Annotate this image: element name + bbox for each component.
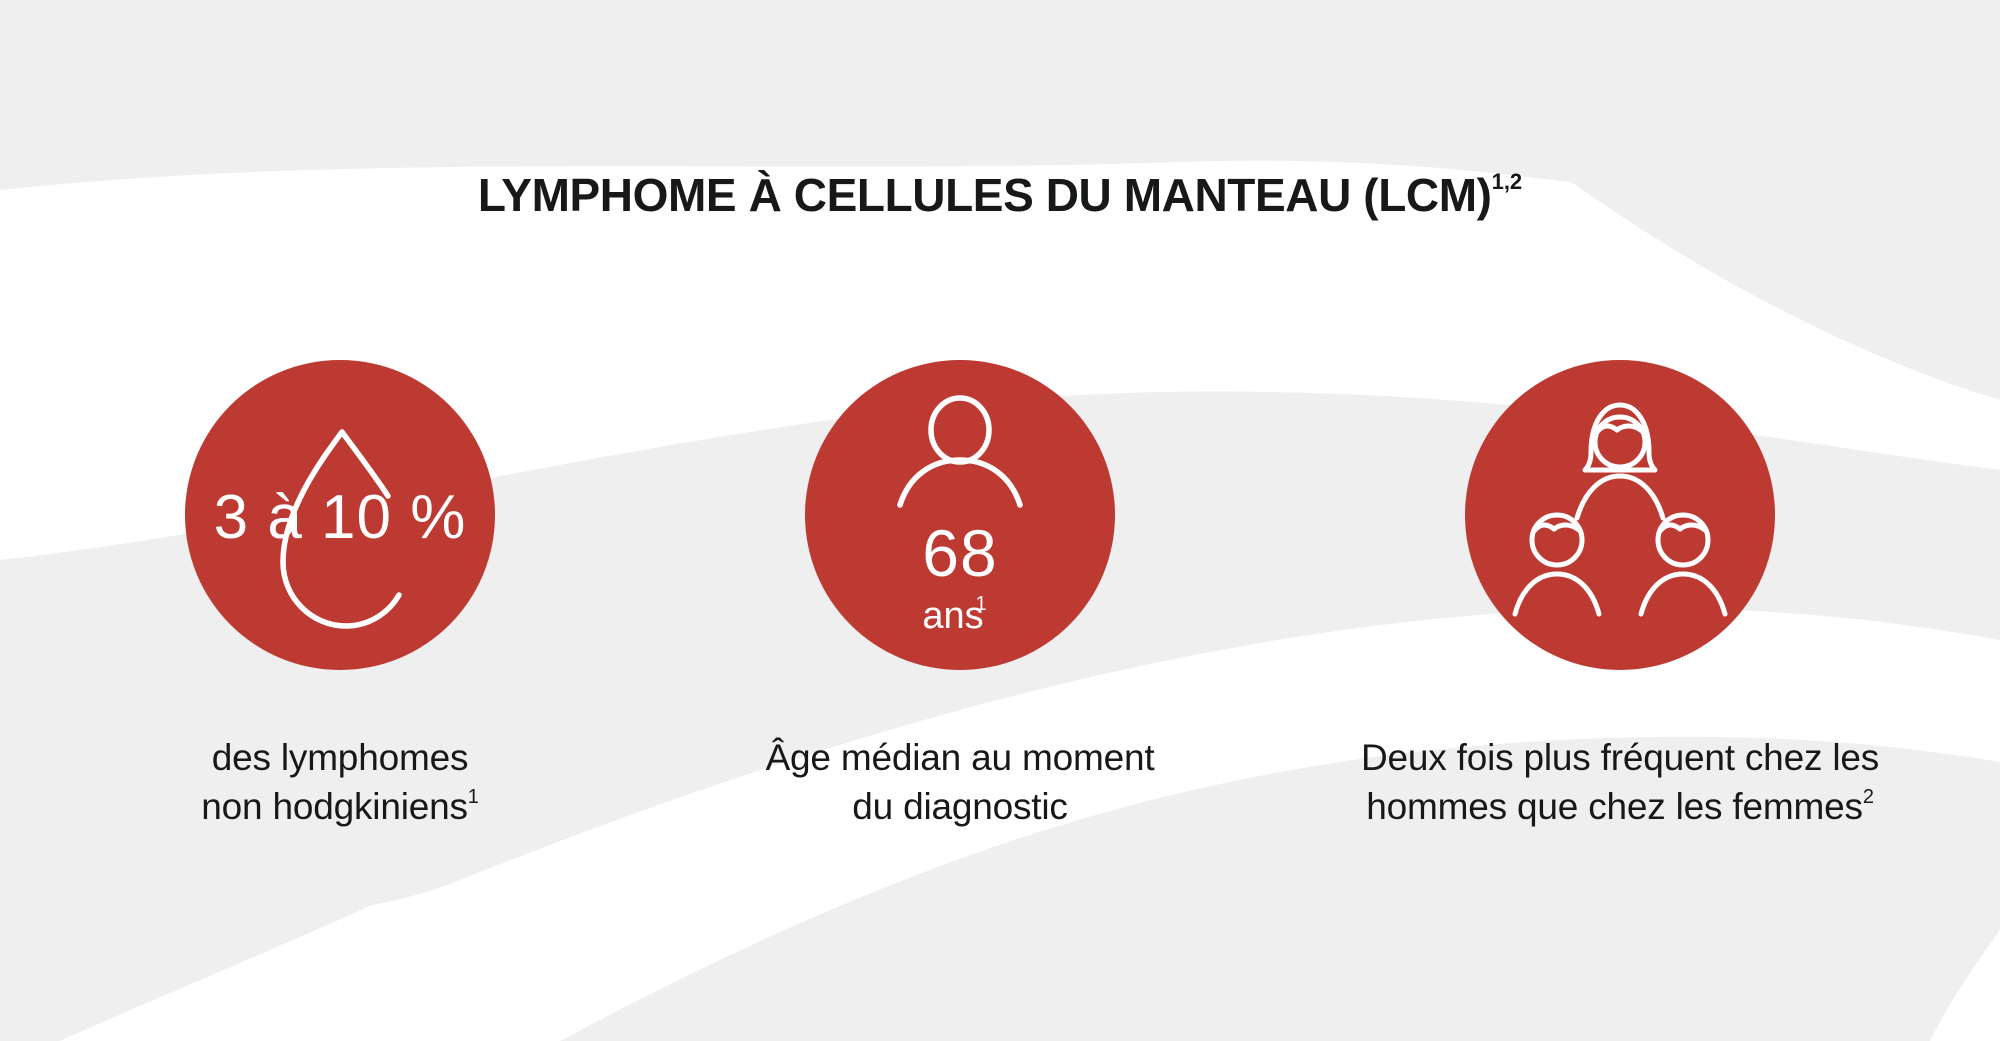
stat-card-row: 3 à 10 % des lymphomes non hodgkiniens1 …	[0, 360, 2000, 832]
stat-value-median-age: 68	[922, 516, 997, 590]
caption-superscript: 1	[468, 786, 479, 808]
caption-line-2-text: non hodgkiniens	[201, 786, 468, 827]
stat-unit-median-age: ans	[922, 595, 983, 637]
stat-card-prevalence: 3 à 10 % des lymphomes non hodgkiniens1	[30, 360, 650, 832]
stat-disc-median-age: 68 ans 1	[805, 360, 1115, 670]
caption-line-2: hommes que chez les femmes2	[1361, 783, 1879, 832]
caption-prevalence: des lymphomes non hodgkiniens1	[201, 734, 478, 832]
caption-line-2: du diagnostic	[766, 783, 1155, 832]
caption-line-2-text: hommes que chez les femmes	[1366, 786, 1863, 827]
woman-figure-icon	[1577, 405, 1663, 518]
caption-line-1: Âge médian au moment	[766, 734, 1155, 783]
blood-droplet-icon: 3 à 10 %	[185, 360, 495, 670]
man-right-figure-icon	[1641, 515, 1725, 614]
stat-value-prevalence: 3 à 10 %	[214, 483, 467, 552]
man-left-figure-icon	[1515, 515, 1599, 614]
caption-line-2-text: du diagnostic	[852, 786, 1067, 827]
caption-line-1: des lymphomes	[201, 734, 478, 783]
group-of-people-icon	[1465, 360, 1775, 670]
page-title-text: LYMPHOME À CELLULES DU MANTEAU (LCM)	[478, 169, 1492, 221]
caption-superscript: 2	[1863, 786, 1874, 808]
stat-card-median-age: 68 ans 1 Âge médian au moment du diagnos…	[650, 360, 1270, 832]
stat-card-sex-ratio: Deux fois plus fréquent chez les hommes …	[1270, 360, 1970, 832]
stat-disc-prevalence: 3 à 10 %	[185, 360, 495, 670]
page-title-superscript: 1,2	[1492, 169, 1523, 194]
caption-line-2: non hodgkiniens1	[201, 783, 478, 832]
caption-median-age: Âge médian au moment du diagnostic	[766, 734, 1155, 832]
stat-disc-sex-ratio	[1465, 360, 1775, 670]
infographic-canvas: LYMPHOME À CELLULES DU MANTEAU (LCM)1,2 …	[0, 0, 2000, 1041]
page-title: LYMPHOME À CELLULES DU MANTEAU (LCM)1,2	[0, 168, 2000, 222]
stat-unit-superscript-median-age: 1	[975, 593, 986, 615]
caption-sex-ratio: Deux fois plus fréquent chez les hommes …	[1361, 734, 1879, 832]
single-person-icon: 68 ans 1	[805, 360, 1115, 670]
caption-line-1: Deux fois plus fréquent chez les	[1361, 734, 1879, 783]
